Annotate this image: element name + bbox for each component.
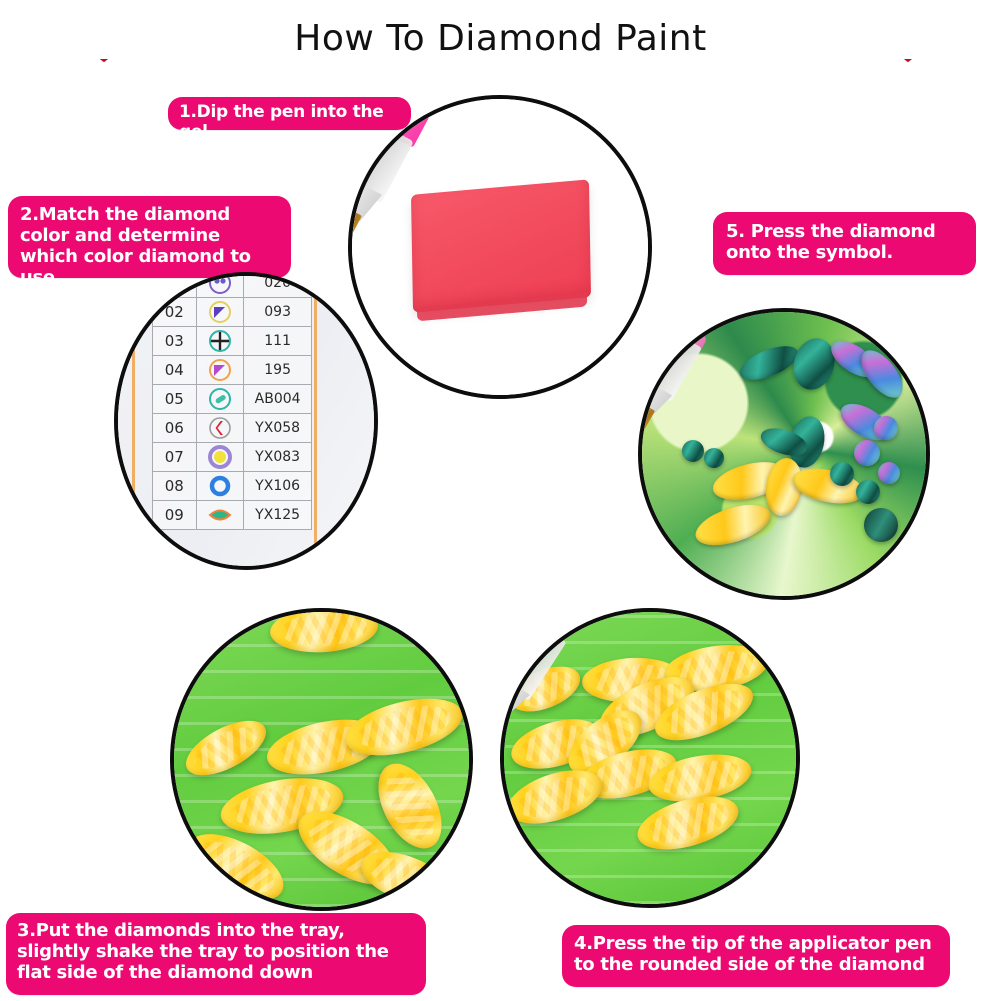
step-3-photo [170, 608, 473, 911]
step-5-label: 5. Press the diamond onto the symbol. [713, 212, 976, 275]
pen-tip [500, 702, 512, 743]
chart-cell-code: 195 [244, 356, 312, 385]
chart-edge-strip [314, 276, 317, 566]
chart-cell-symbol [196, 443, 244, 472]
chart-row: 03111 [153, 327, 312, 356]
chart-cell-number: 06 [153, 414, 197, 443]
header: How To Diamond Paint [0, 0, 1001, 90]
chart-cell-number: 04 [153, 356, 197, 385]
chart-row: 06YX058 [153, 414, 312, 443]
step-3-label: 3.Put the diamonds into the tray, slight… [6, 913, 426, 995]
page-title: How To Diamond Paint [0, 18, 1001, 59]
symbol-plus-circle-icon [208, 329, 232, 353]
canvas-diamond [878, 462, 900, 484]
step-4-photo [500, 608, 800, 908]
canvas-diamond [854, 440, 880, 466]
chart-row: 02093 [153, 298, 312, 327]
chart-cell-code: 020 [244, 272, 312, 298]
chart-cell-symbol [196, 385, 244, 414]
step-4-label: 4.Press the tip of the applicator pen to… [562, 925, 950, 987]
chart-cell-code: YX106 [244, 472, 312, 501]
chart-cell-symbol [196, 272, 244, 298]
pink-gel-pad [411, 179, 591, 312]
chart-row: 09YX125 [153, 501, 312, 530]
chart-cell-symbol [196, 501, 244, 530]
symbol-slanted-capsule-circle-icon [208, 387, 232, 411]
chart-cell-code: YX058 [244, 414, 312, 443]
chart-row: 04195 [153, 356, 312, 385]
pen-tip [638, 404, 655, 442]
chart-cell-code: 111 [244, 327, 312, 356]
chart-cell-symbol [196, 327, 244, 356]
chart-row: 05AB004 [153, 385, 312, 414]
symbol-filled-triangle-circle-icon [208, 358, 232, 382]
chart-cell-symbol [196, 414, 244, 443]
infographic-root: How To Diamond Paint 1.Dip the pen into … [0, 0, 1001, 1001]
chart-cell-code: AB004 [244, 385, 312, 414]
chart-cell-symbol [196, 472, 244, 501]
symbol-open-ring-circle-icon [208, 474, 232, 498]
chart-row: 08YX106 [153, 472, 312, 501]
chart-row: 01020 [153, 272, 312, 298]
symbol-left-chevron-circle-icon [208, 416, 232, 440]
chart-cell-number: 01 [153, 272, 197, 298]
step-2-photo-chart: 0102002093031110419505AB00406YX05807YX08… [114, 272, 378, 570]
step-1-photo [348, 95, 652, 399]
diamond-symbol-chart: 0102002093031110419505AB00406YX05807YX08… [152, 272, 312, 530]
chart-cell-code: YX083 [244, 443, 312, 472]
chart-cell-number: 09 [153, 501, 197, 530]
symbol-two-dots-circle-icon [208, 272, 232, 295]
step-2-label: 2.Match the diamond color and determine … [8, 196, 291, 278]
canvas-diamond [830, 462, 854, 486]
chart-cell-number: 03 [153, 327, 197, 356]
chart-cell-symbol [196, 298, 244, 327]
chart-cell-number: 02 [153, 298, 197, 327]
chart-cell-code: 093 [244, 298, 312, 327]
symbol-leaf-marquise-icon [208, 503, 232, 527]
chart-edge-strip [132, 276, 135, 566]
chart-cell-symbol [196, 356, 244, 385]
chart-cell-code: YX125 [244, 501, 312, 530]
chart-cell-number: 05 [153, 385, 197, 414]
canvas-diamond [704, 448, 724, 468]
chart-cell-number: 07 [153, 443, 197, 472]
symbol-filled-triangle-circle-icon [208, 300, 232, 324]
canvas-diamond [682, 440, 704, 462]
step-5-photo [638, 308, 930, 600]
canvas-diamond [864, 508, 898, 542]
chart-cell-number: 08 [153, 472, 197, 501]
chart-row: 07YX083 [153, 443, 312, 472]
canvas-diamond [874, 416, 898, 440]
symbol-solid-dot-circle-icon [208, 445, 232, 469]
canvas-diamond [856, 480, 880, 504]
